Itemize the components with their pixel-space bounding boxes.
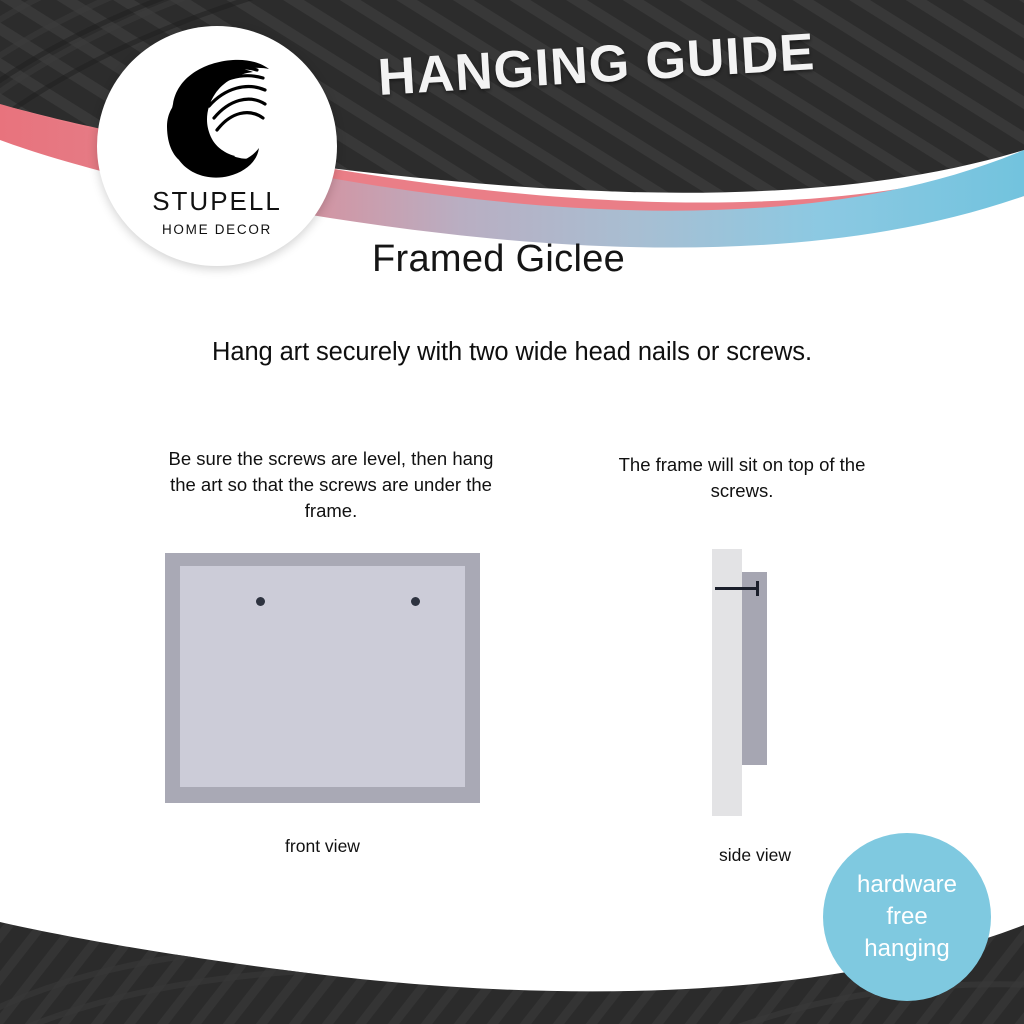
front-view-label: front view xyxy=(165,836,480,857)
nail-shaft-icon xyxy=(715,587,758,590)
hardware-free-hanging-badge: hardware free hanging xyxy=(823,833,991,1001)
front-view-art-area xyxy=(180,566,465,787)
screw-dot-right-icon xyxy=(411,597,420,606)
side-view-label: side view xyxy=(672,845,838,866)
side-view-caption: The frame will sit on top of the screws. xyxy=(596,452,888,504)
side-view-diagram xyxy=(705,545,805,817)
badge-line-3: hanging xyxy=(864,933,949,965)
logo-brand-subtitle: HOME DECOR xyxy=(162,222,272,237)
main-instruction-text: Hang art securely with two wide head nai… xyxy=(0,338,1024,367)
badge-line-2: free xyxy=(886,901,927,933)
badge-line-1: hardware xyxy=(857,869,957,901)
front-view-caption: Be sure the screws are level, then hang … xyxy=(160,446,502,524)
stupell-swoosh-icon xyxy=(159,52,275,180)
frame-edge-strip xyxy=(742,572,767,765)
brand-logo-badge: STUPELL HOME DECOR xyxy=(97,26,337,266)
screw-dot-left-icon xyxy=(256,597,265,606)
hanging-guide-page: STUPELL HOME DECOR HANGING GUIDE Framed … xyxy=(0,0,1024,1024)
nail-head-icon xyxy=(756,581,759,596)
page-title: HANGING GUIDE xyxy=(376,22,816,108)
logo-brand-name: STUPELL xyxy=(152,186,282,217)
front-view-diagram xyxy=(165,553,480,803)
product-type-label: Framed Giclee xyxy=(372,238,625,281)
